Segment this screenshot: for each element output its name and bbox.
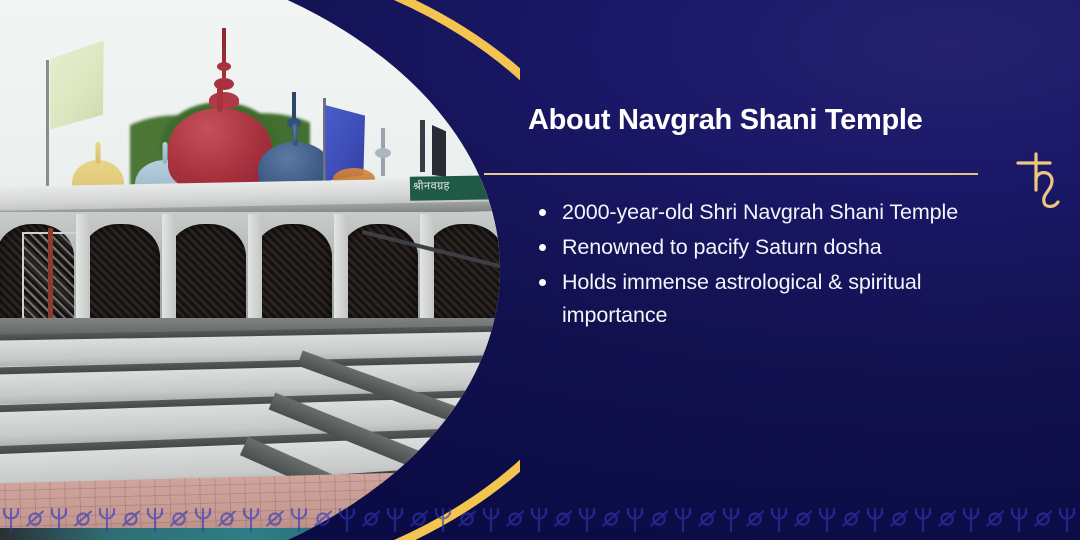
temple-pillar — [334, 214, 348, 322]
saturn-glyph-icon — [1014, 150, 1072, 212]
temple-pillar — [248, 214, 262, 322]
list-item: Renowned to pacify Saturn dosha — [530, 231, 1020, 264]
temple-arch-opening — [82, 224, 160, 320]
temple-arch-opening — [168, 224, 246, 320]
temple-gate-post — [48, 228, 53, 324]
spire-small-left-bead — [375, 148, 391, 158]
temple-arch-opening — [254, 224, 332, 320]
list-item: Holds immense astrological & spiritual i… — [530, 266, 1020, 332]
gold-divider-line — [484, 173, 978, 175]
slide-canvas: श्रीनवग्रह — [0, 0, 1080, 540]
temple-arch-opening — [426, 224, 500, 320]
list-item: 2000-year-old Shri Navgrah Shani Temple — [530, 196, 1020, 229]
page-title: About Navgrah Shani Temple — [528, 104, 923, 137]
spire-red-bead-3 — [209, 92, 239, 108]
temple-pillar — [420, 214, 434, 322]
decorative-symbol-band — [0, 498, 1080, 540]
flag-dark — [432, 125, 446, 177]
bullet-list: 2000-year-old Shri Navgrah Shani Temple … — [530, 196, 1020, 334]
temple-pillar — [76, 214, 90, 322]
content-column: About Navgrah Shani Temple 2000-year-old… — [528, 0, 1048, 540]
temple-pillar — [162, 214, 176, 322]
dome-red-main — [168, 108, 272, 190]
flag-pole-green — [46, 60, 49, 190]
spire-small-right — [420, 120, 425, 172]
temple-arch-opening — [340, 224, 418, 320]
spire-red-bead-1 — [217, 62, 231, 71]
